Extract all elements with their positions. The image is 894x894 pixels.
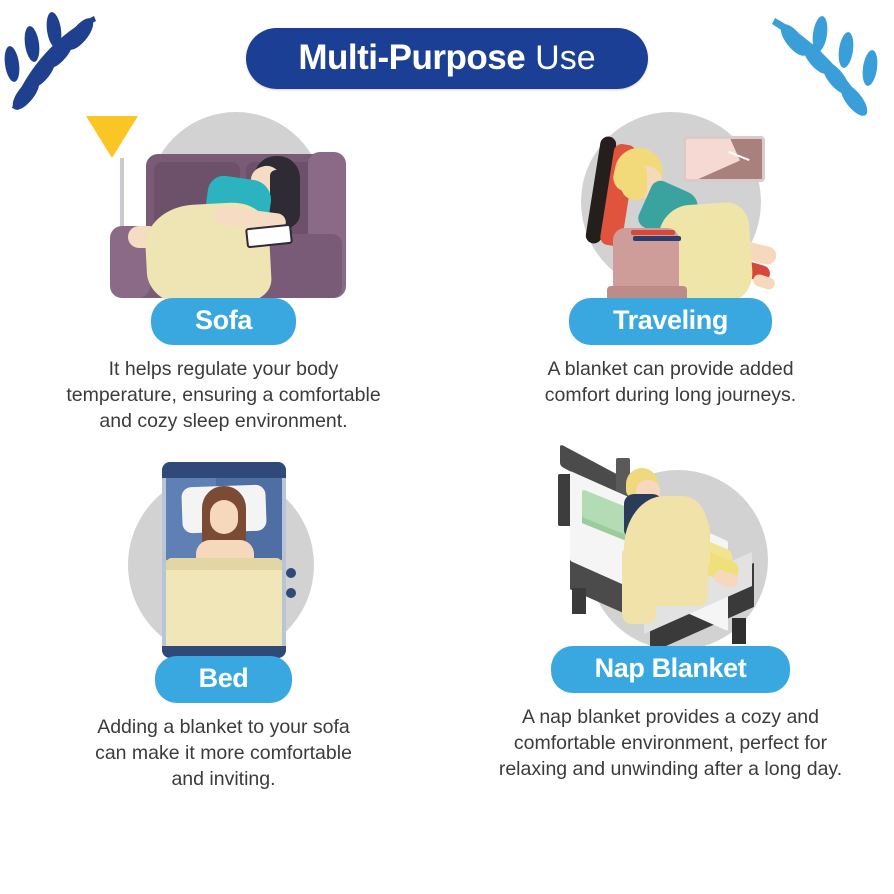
feature-card-traveling: Traveling A blanket can provide added co…: [447, 108, 894, 456]
card-badge-traveling[interactable]: Traveling: [569, 298, 772, 345]
bed-knob-upper: [286, 568, 296, 578]
page-title-bold: Multi-Purpose: [298, 40, 525, 75]
feature-card-grid: Sofa It helps regulate your body tempera…: [0, 108, 894, 804]
card-badge-bed[interactable]: Bed: [155, 656, 293, 703]
feature-card-nap-blanket: Nap Blanket A nap blanket provides a coz…: [447, 456, 894, 804]
card-description-sofa: It helps regulate your body temperature,…: [66, 357, 380, 435]
vehicle-window: [683, 136, 765, 182]
sleeper-face: [210, 500, 238, 534]
bed-headboard: [162, 462, 286, 478]
illustration-nap-blanket: [546, 456, 796, 652]
blanket-fold-edge: [166, 558, 282, 570]
card-description-nap-blanket: A nap blanket provides a cozy and comfor…: [499, 705, 842, 783]
lamp-shade-icon: [86, 116, 138, 158]
bed-leg-left: [572, 588, 586, 614]
bed-leg-right: [732, 618, 746, 644]
card-description-bed: Adding a blanket to your sofa can make i…: [95, 715, 352, 793]
page-title-container: Multi-Purpose Use: [0, 28, 894, 89]
seat-tray-stripe-red: [631, 230, 675, 235]
feature-card-sofa: Sofa It helps regulate your body tempera…: [0, 108, 447, 456]
nap-blanket-hang: [622, 548, 656, 624]
illustration-traveling: [555, 108, 787, 304]
feature-card-bed: Bed Adding a blanket to your sofa can ma…: [0, 456, 447, 804]
page-title-light: Use: [535, 41, 595, 75]
traveler-hair-front: [621, 166, 647, 200]
seat-tray-stripe-blue: [633, 236, 681, 241]
bed-knob-lower: [286, 588, 296, 598]
card-badge-nap-blanket[interactable]: Nap Blanket: [551, 646, 791, 693]
blanket-cover: [166, 558, 282, 654]
card-badge-sofa[interactable]: Sofa: [151, 298, 296, 345]
illustration-sofa: [94, 108, 354, 304]
page-title-pill: Multi-Purpose Use: [246, 28, 647, 89]
card-description-traveling: A blanket can provide added comfort duri…: [545, 357, 796, 409]
traveler-foot: [751, 273, 776, 291]
illustration-bed: [94, 456, 354, 662]
